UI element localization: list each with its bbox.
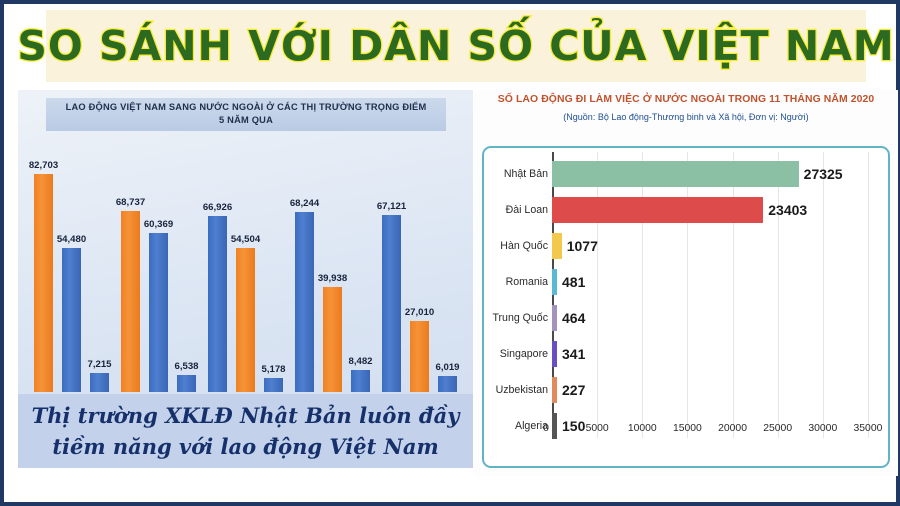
column-bar: 68,737 xyxy=(121,134,140,392)
bar-category-label: Singapore xyxy=(486,348,548,360)
caption-line-1: Thị trường XKLĐ Nhật Bản luôn đầy xyxy=(32,400,460,431)
x-axis-tick-label: 10000 xyxy=(628,423,657,434)
column-bar-rect xyxy=(121,211,140,392)
left-column-chart: 82,703Nhật Bản54,480Đài Loan7,215Hàn Quố… xyxy=(18,134,473,426)
bar-rect xyxy=(552,197,763,223)
bar-row: 1077 xyxy=(552,228,882,264)
bar-row: 464 xyxy=(552,300,882,336)
column-bar-value-label: 8,482 xyxy=(349,356,373,367)
column-bar: 6,019 xyxy=(438,134,457,392)
bar-value-label: 481 xyxy=(562,274,585,290)
bar-row: 27325 xyxy=(552,156,882,192)
column-bar-value-label: 54,504 xyxy=(231,234,260,245)
right-chart-panel: SỐ LAO ĐỘNG ĐI LÀM VIỆC Ở NƯỚC NGOÀI TRO… xyxy=(474,90,898,476)
slide-root: SO SÁNH VỚI DÂN SỐ CỦA VIỆT NAM LAO ĐỘNG… xyxy=(0,0,900,506)
bar-category-label: Nhật Bản xyxy=(486,168,548,180)
bar-category-label: Romania xyxy=(486,276,548,288)
column-bar-rect xyxy=(208,216,227,392)
column-bar-rect xyxy=(410,321,429,392)
bar-value-label: 227 xyxy=(562,382,585,398)
bar-rect xyxy=(552,377,557,403)
bar-value-label: 1077 xyxy=(567,238,598,254)
column-bar-value-label: 54,480 xyxy=(57,234,86,245)
column-bar: 27,010 xyxy=(410,134,429,392)
column-bar: 5,178 xyxy=(264,134,283,392)
bar-row: 481 xyxy=(552,264,882,300)
bar-category-label: Algeria xyxy=(486,420,548,432)
x-axis-tick-label: 30000 xyxy=(808,423,837,434)
column-bar: 68,244 xyxy=(295,134,314,392)
column-bar-value-label: 6,019 xyxy=(436,362,460,373)
bar-value-label: 23403 xyxy=(768,202,807,218)
column-bar-rect xyxy=(62,248,81,392)
bar-rect xyxy=(552,161,799,187)
column-bar-rect xyxy=(264,378,283,392)
column-bar: 8,482 xyxy=(351,134,370,392)
column-bar-value-label: 82,703 xyxy=(29,160,58,171)
left-chart-title-line1: LAO ĐỘNG VIỆT NAM SANG NƯỚC NGOÀI Ở CÁC … xyxy=(66,102,427,112)
column-bar: 6,538 xyxy=(177,134,196,392)
column-bar-rect xyxy=(323,287,342,392)
bar-rect xyxy=(552,269,557,295)
right-chart-frame: 27325Nhật Bản23403Đài Loan1077Hàn Quốc48… xyxy=(482,146,890,468)
bar-category-label: Trung Quốc xyxy=(486,312,548,324)
column-bar: 54,504 xyxy=(236,134,255,392)
bar-value-label: 464 xyxy=(562,310,585,326)
column-bar-rect xyxy=(90,373,109,392)
column-bar: 54,480 xyxy=(62,134,81,392)
column-bar: 67,121 xyxy=(382,134,401,392)
column-bar-rect xyxy=(351,370,370,392)
column-bar-value-label: 68,737 xyxy=(116,197,145,208)
bar-value-label: 150 xyxy=(562,418,585,434)
column-bar: 66,926 xyxy=(208,134,227,392)
x-axis-tick-label: 15000 xyxy=(673,423,702,434)
bar-rect xyxy=(552,341,557,367)
x-axis-tick-label: 20000 xyxy=(718,423,747,434)
bar-category-label: Hàn Quốc xyxy=(486,240,548,252)
x-axis-tick-label: 25000 xyxy=(763,423,792,434)
x-axis-tick-label: 5000 xyxy=(586,423,609,434)
bar-value-label: 27325 xyxy=(804,166,843,182)
x-axis-tick-label: 35000 xyxy=(853,423,882,434)
column-bar-value-label: 6,538 xyxy=(175,361,199,372)
right-horizontal-bar-chart: 27325Nhật Bản23403Đài Loan1077Hàn Quốc48… xyxy=(552,152,882,438)
bar-value-label: 341 xyxy=(562,346,585,362)
left-chart-title: LAO ĐỘNG VIỆT NAM SANG NƯỚC NGOÀI Ở CÁC … xyxy=(46,98,446,131)
bar-rect xyxy=(552,305,557,331)
bar-category-label: Đài Loan xyxy=(486,204,548,216)
bar-rect xyxy=(552,233,562,259)
column-bar-rect xyxy=(382,215,401,392)
column-bar-value-label: 39,938 xyxy=(318,273,347,284)
column-bar: 39,938 xyxy=(323,134,342,392)
column-bar-rect xyxy=(295,212,314,392)
right-chart-title: SỐ LAO ĐỘNG ĐI LÀM VIỆC Ở NƯỚC NGOÀI TRO… xyxy=(474,94,898,105)
bar-rect xyxy=(552,413,557,439)
column-bar-value-label: 60,369 xyxy=(144,219,173,230)
column-bar: 82,703 xyxy=(34,134,53,392)
caption-line-2: tiềm năng với lao động Việt Nam xyxy=(52,431,438,462)
column-bar-value-label: 68,244 xyxy=(290,198,319,209)
column-bar-rect xyxy=(149,233,168,392)
left-chart-title-line2: 5 NĂM QUA xyxy=(219,115,273,125)
right-chart-subtitle: (Nguồn: Bộ Lao động-Thương binh và Xã hộ… xyxy=(474,112,898,122)
column-bar-value-label: 27,010 xyxy=(405,307,434,318)
slide-title-banner: SO SÁNH VỚI DÂN SỐ CỦA VIỆT NAM xyxy=(46,10,866,82)
column-bar: 60,369 xyxy=(149,134,168,392)
column-bar: 7,215 xyxy=(90,134,109,392)
bar-category-label: Uzbekistan xyxy=(486,384,548,396)
x-axis-tick-label: 0 xyxy=(543,423,549,434)
column-bar-rect xyxy=(34,174,53,392)
column-bar-value-label: 66,926 xyxy=(203,202,232,213)
left-caption-box: Thị trường XKLĐ Nhật Bản luôn đầy tiềm n… xyxy=(18,394,473,468)
bar-row: 227 xyxy=(552,372,882,408)
bar-row: 23403 xyxy=(552,192,882,228)
column-bar-rect xyxy=(236,248,255,392)
column-bar-value-label: 5,178 xyxy=(262,364,286,375)
page-title: SO SÁNH VỚI DÂN SỐ CỦA VIỆT NAM xyxy=(17,22,894,70)
column-bar-rect xyxy=(438,376,457,392)
bar-row: 341 xyxy=(552,336,882,372)
column-bar-rect xyxy=(177,375,196,392)
column-bar-value-label: 7,215 xyxy=(88,359,112,370)
column-bar-value-label: 67,121 xyxy=(377,201,406,212)
